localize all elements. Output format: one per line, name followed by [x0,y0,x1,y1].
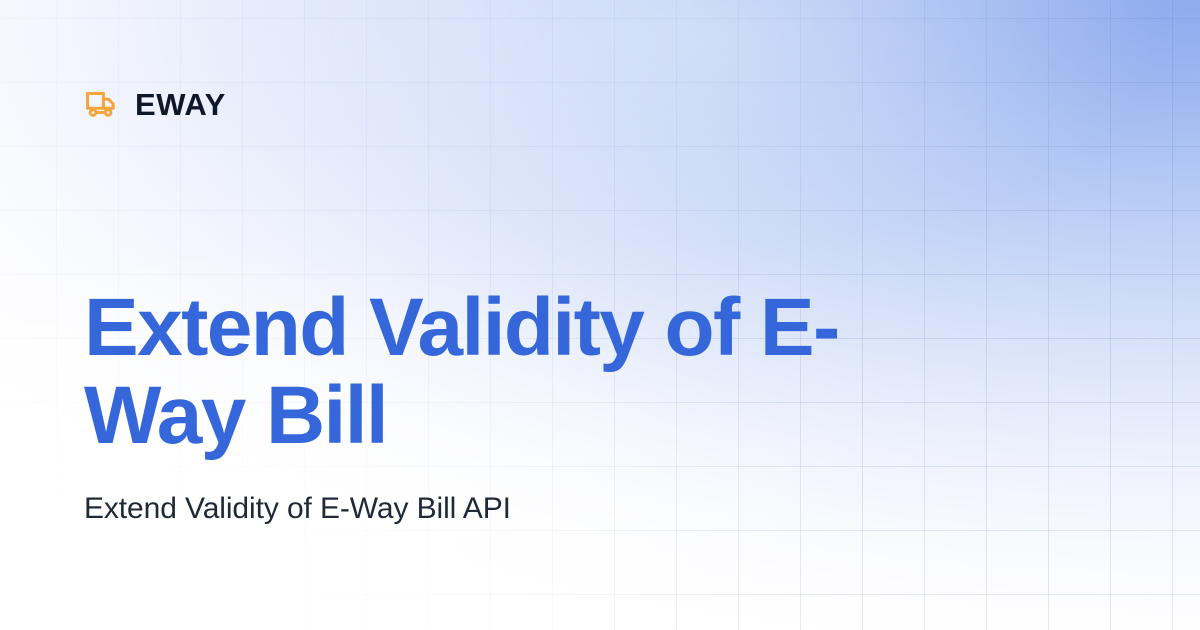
hero-section: Extend Validity of E-Way Bill Extend Val… [84,284,1044,528]
brand-name: EWAY [135,89,226,120]
brand-logo: EWAY [84,84,226,124]
og-card: EWAY Extend Validity of E-Way Bill Exten… [0,0,1200,630]
truck-icon [84,87,118,121]
page-title: Extend Validity of E-Way Bill [84,284,984,459]
page-subtitle: Extend Validity of E-Way Bill API [84,489,1044,528]
